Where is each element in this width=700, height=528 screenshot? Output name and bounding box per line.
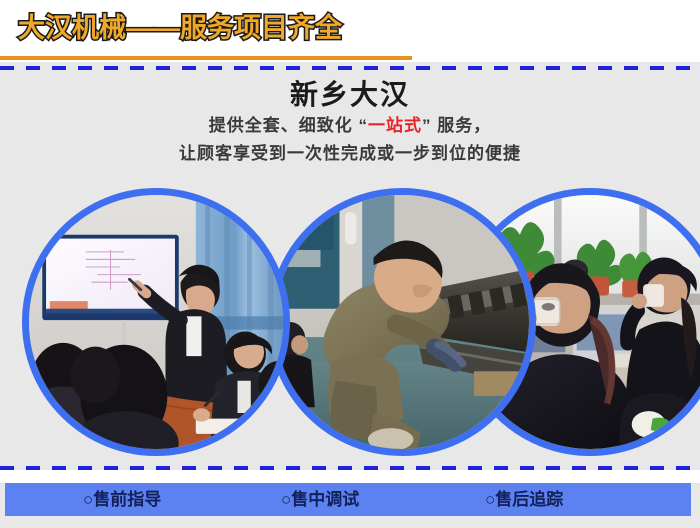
page-title: 大汉机械——服务项目齐全 xyxy=(18,11,342,45)
content-stage: 新乡大汉 提供全套、细致化 “一站式” 服务， 让顾客享受到一次性完成或一步到位… xyxy=(0,62,700,528)
brand-heading: 新乡大汉 xyxy=(0,78,700,112)
circle-marker-icon: ○ xyxy=(281,490,291,509)
tagline-prefix: 提供全套、细致化 “ xyxy=(209,116,368,135)
tagline-suffix: ” 服务， xyxy=(422,116,491,135)
service-stage-in-sale-label: 售中调试 xyxy=(291,490,359,509)
pre-sale-training-photo-image xyxy=(29,195,283,449)
tagline-line-2: 让顾客享受到一次性完成或一步到位的便捷 xyxy=(0,142,700,166)
tagline-highlight: 一站式 xyxy=(368,116,422,135)
service-stage-after-sale[interactable]: ○售后追踪 xyxy=(485,487,563,512)
title-underline-rule xyxy=(0,56,412,60)
pre-sale-training-photo xyxy=(22,188,290,456)
circle-marker-icon: ○ xyxy=(485,490,495,509)
dashed-divider-top xyxy=(0,66,700,70)
in-sale-commissioning-photo-image xyxy=(275,195,529,449)
service-stage-after-sale-label: 售后追踪 xyxy=(495,490,563,509)
circle-marker-icon: ○ xyxy=(83,490,93,509)
footer-white-gap xyxy=(0,470,700,483)
photo-circles-row xyxy=(0,182,700,462)
tagline-line-1: 提供全套、细致化 “一站式” 服务， xyxy=(0,114,700,138)
in-sale-commissioning-photo xyxy=(268,188,536,456)
service-stage-in-sale[interactable]: ○售中调试 xyxy=(281,487,359,512)
service-stage-pre-sale-label: 售前指导 xyxy=(93,490,161,509)
service-stages-bar: ○售前指导 ○售中调试 ○售后追踪 xyxy=(5,483,691,516)
service-stage-pre-sale[interactable]: ○售前指导 xyxy=(83,487,161,512)
page-header: 大汉机械——服务项目齐全 xyxy=(0,0,700,62)
